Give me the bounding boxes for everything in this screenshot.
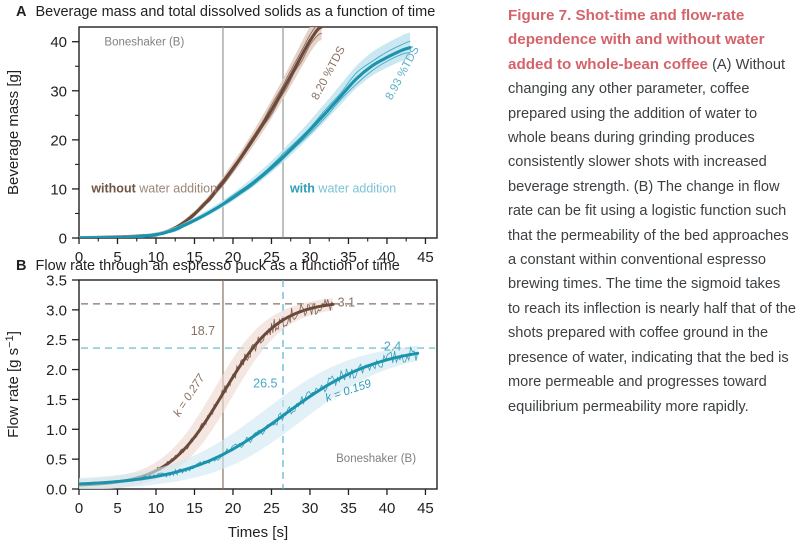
svg-text:26.5: 26.5 [253,376,277,390]
svg-text:2.0: 2.0 [46,362,67,379]
svg-text:3.1: 3.1 [338,295,355,309]
panel-b-chart: 0510152025303540450.00.51.01.52.02.53.03… [0,272,496,541]
svg-text:0: 0 [75,500,83,517]
svg-text:1.0: 1.0 [46,422,67,439]
panel-a-y-axis-title: Beverage mass [g] [5,70,22,195]
panel-a-chart: 051015202530354045010203040Beverage mass… [0,18,496,268]
svg-text:18.7: 18.7 [191,324,215,338]
svg-text:Flow rate [g s−1]: Flow rate [g s−1] [4,331,22,438]
svg-text:40: 40 [379,500,396,517]
svg-text:45: 45 [417,249,434,266]
caption-column: Figure 7. Shot-time and flow-rate depend… [508,4,796,537]
svg-text:25: 25 [263,500,280,517]
svg-text:with water addition: with water addition [289,181,396,195]
figure-caption: Figure 7. Shot-time and flow-rate depend… [508,4,796,419]
figure-caption-body: (A) Without changing any other parameter… [508,57,796,415]
svg-text:15: 15 [186,500,203,517]
svg-text:35: 35 [340,500,357,517]
svg-text:2.5: 2.5 [46,332,67,349]
svg-text:45: 45 [417,500,434,517]
svg-text:20: 20 [225,500,242,517]
svg-text:3.0: 3.0 [46,302,67,319]
svg-text:0.0: 0.0 [46,482,67,499]
svg-text:10: 10 [148,500,165,517]
svg-text:0.5: 0.5 [46,452,67,469]
svg-text:10: 10 [50,181,67,198]
svg-text:5: 5 [113,500,121,517]
svg-text:1.5: 1.5 [46,392,67,409]
svg-text:3.5: 3.5 [46,273,67,290]
svg-text:40: 40 [50,34,67,51]
svg-text:Times [s]: Times [s] [228,524,288,541]
svg-text:0: 0 [59,231,67,248]
svg-text:Boneshaker (B): Boneshaker (B) [104,37,184,49]
svg-text:30: 30 [50,83,67,100]
svg-text:Boneshaker (B): Boneshaker (B) [336,453,416,465]
svg-text:30: 30 [302,500,319,517]
svg-text:without water addition: without water addition [90,181,217,195]
figure-root: A Beverage mass and total dissolved soli… [0,0,800,541]
svg-text:2.4: 2.4 [384,339,401,353]
svg-text:20: 20 [50,132,67,149]
plots-column: A Beverage mass and total dissolved soli… [0,0,496,541]
